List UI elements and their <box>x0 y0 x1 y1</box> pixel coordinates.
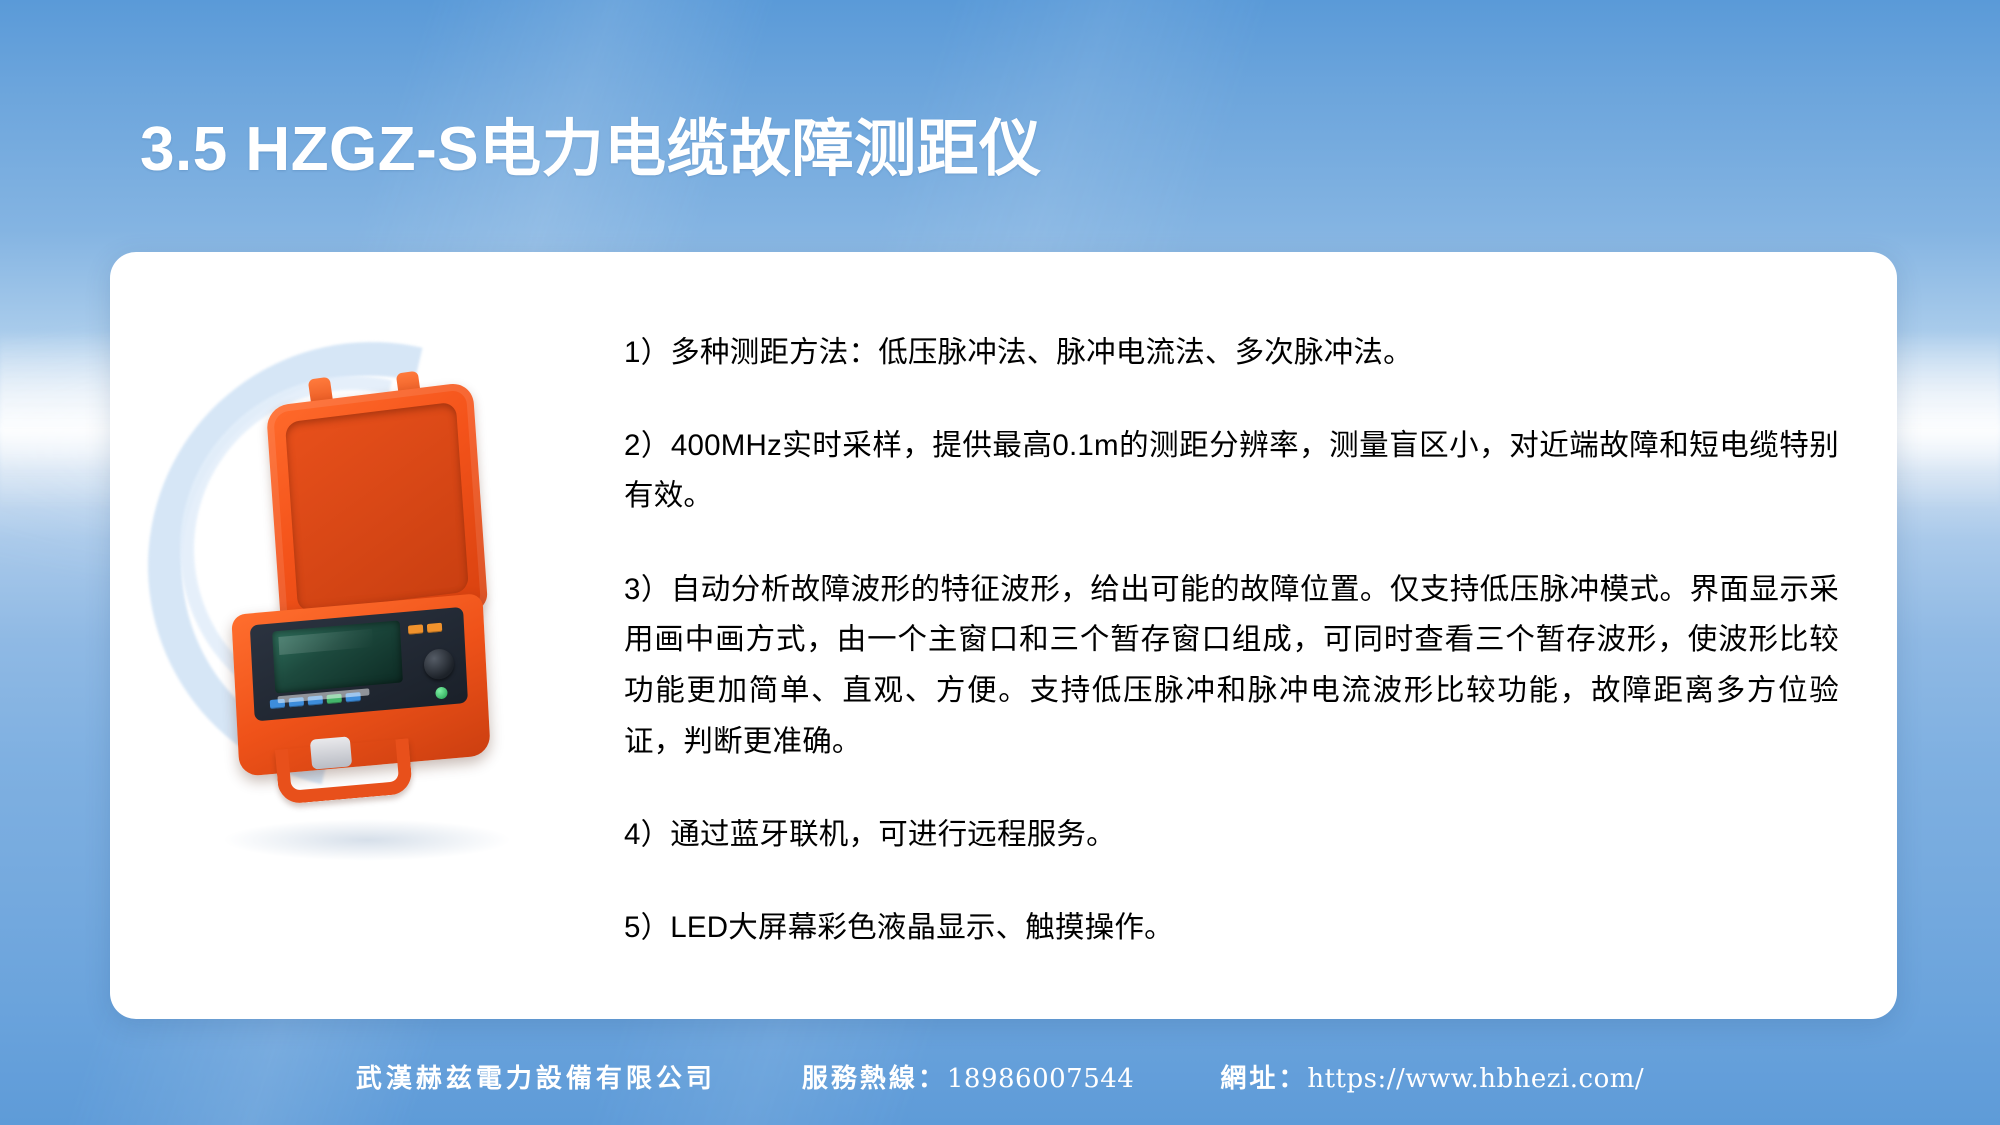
footer-website-value[interactable]: https://www.hbhezi.com/ <box>1307 1064 1644 1094</box>
keypad-row-top <box>408 623 442 635</box>
page-title: 3.5 HZGZ-S电力电缆故障测距仪 <box>140 98 1042 188</box>
footer-company-name: 武漢赫兹電力設備有限公司 <box>356 1058 716 1095</box>
feature-list: 1）多种测距方法：低压脉冲法、脉冲电流法、多次脉冲法。 2）400MHz实时采样… <box>610 252 1897 1019</box>
product-device-image <box>215 372 515 792</box>
list-item: 5）LED大屏幕彩色液晶显示、触摸操作。 <box>624 903 1839 954</box>
product-image-pane <box>110 252 610 1019</box>
list-item: 2）400MHz实时采样，提供最高0.1m的测距分辨率，测量盲区小，对近端故障和… <box>624 421 1839 522</box>
power-indicator-icon <box>435 686 448 699</box>
footer-hotline: 服務熱線：18986007544 <box>802 1058 1134 1095</box>
slide-canvas: 3.5 HZGZ-S电力电缆故障测距仪 <box>0 0 2000 1125</box>
footer-hotline-value: 18986007544 <box>947 1064 1134 1094</box>
rotary-knob-icon <box>423 648 454 681</box>
footer: 武漢赫兹電力設備有限公司 服務熱線：18986007544 網址：https:/… <box>0 1058 2000 1095</box>
list-item: 3）自动分析故障波形的特征波形，给出可能的故障位置。仅支持低压脉冲模式。界面显示… <box>624 565 1839 768</box>
case-lid-inner <box>285 402 469 613</box>
case-handle-grip <box>310 736 352 769</box>
footer-website-label: 網址： <box>1220 1064 1307 1094</box>
list-item: 4）通过蓝牙联机，可进行远程服务。 <box>624 810 1839 861</box>
footer-website: 網址：https://www.hbhezi.com/ <box>1220 1058 1644 1095</box>
footer-hotline-label: 服務熱線： <box>802 1064 947 1094</box>
control-panel <box>250 607 468 722</box>
product-shadow <box>222 819 512 861</box>
key-button <box>427 623 442 633</box>
list-item: 1）多种测距方法：低压脉冲法、脉冲电流法、多次脉冲法。 <box>624 328 1839 379</box>
content-card: 1）多种测距方法：低压脉冲法、脉冲电流法、多次脉冲法。 2）400MHz实时采样… <box>110 252 1897 1019</box>
lcd-screen <box>272 620 403 693</box>
key-button <box>408 624 423 634</box>
